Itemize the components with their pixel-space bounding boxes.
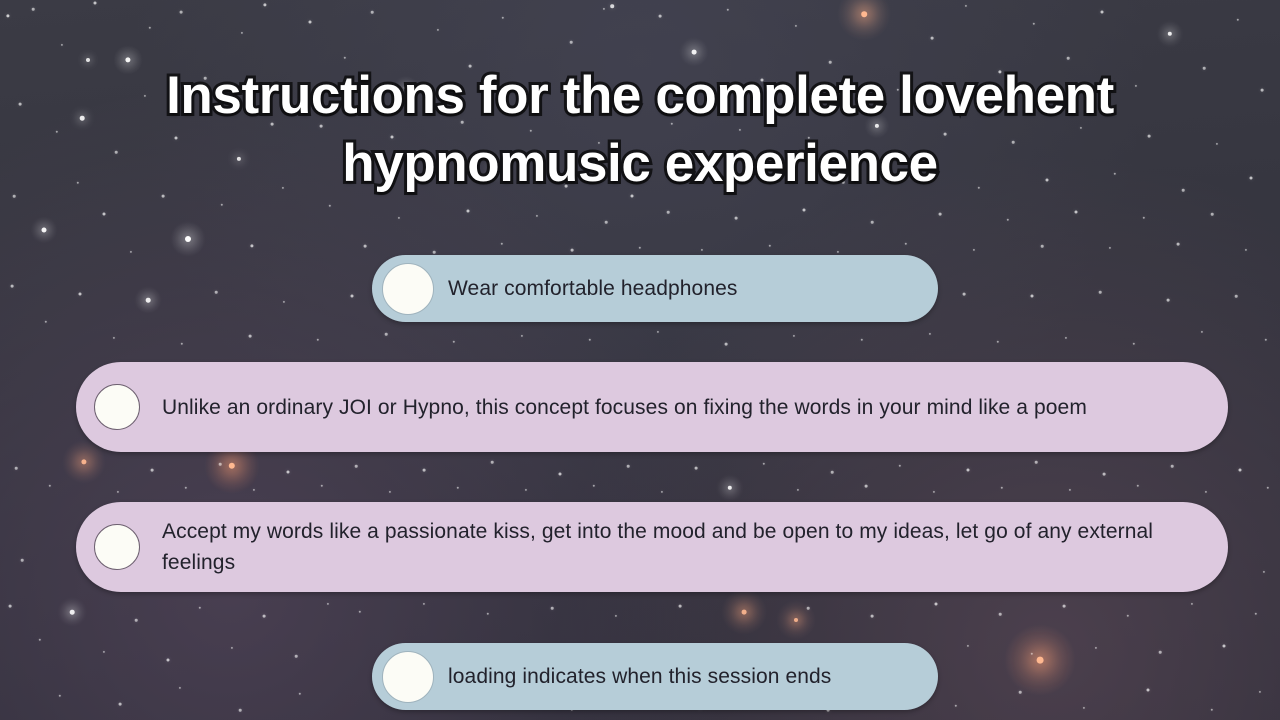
star (1159, 651, 1162, 654)
star (939, 213, 942, 216)
star (679, 605, 682, 608)
star (1095, 647, 1097, 649)
star (180, 11, 183, 14)
star (871, 221, 874, 224)
star (803, 209, 806, 212)
star (1041, 245, 1044, 248)
star (263, 615, 266, 618)
instruction-card-text: Wear comfortable headphones (448, 273, 738, 304)
star (1137, 485, 1139, 487)
star (1235, 295, 1238, 298)
star (42, 228, 47, 233)
circle-bullet-icon (94, 524, 140, 570)
star (742, 610, 747, 615)
star (398, 217, 400, 219)
star (117, 491, 119, 493)
star (807, 607, 810, 610)
star (551, 607, 554, 610)
star (167, 659, 170, 662)
star (453, 341, 455, 343)
star-glow (1156, 20, 1184, 48)
star (1075, 211, 1078, 214)
star (861, 11, 867, 17)
star-glow (837, 0, 891, 41)
star (355, 465, 358, 468)
star-glow (134, 286, 162, 314)
star (695, 467, 698, 470)
star-glow (776, 600, 816, 640)
star (963, 293, 966, 296)
star (1191, 603, 1193, 605)
star (317, 339, 319, 341)
star (39, 639, 41, 641)
star (1101, 11, 1104, 14)
instruction-card[interactable]: Wear comfortable headphones (372, 255, 938, 322)
star (1263, 571, 1265, 573)
star (364, 245, 367, 248)
star (59, 695, 61, 697)
star (1205, 491, 1207, 493)
star (151, 469, 154, 472)
star (570, 41, 573, 44)
star (589, 339, 591, 341)
star (146, 298, 151, 303)
star-glow (31, 217, 57, 243)
star (6, 14, 9, 17)
star (433, 251, 436, 254)
star (1109, 247, 1111, 249)
page-title-line-2: hypnomusic experience (0, 130, 1280, 198)
star (229, 463, 235, 469)
star (794, 618, 798, 622)
star (955, 705, 957, 707)
star (250, 244, 253, 247)
star (351, 295, 354, 298)
star (94, 2, 97, 5)
star (1035, 461, 1038, 464)
star (1147, 689, 1150, 692)
star (423, 603, 425, 605)
star (763, 463, 765, 465)
star (199, 607, 201, 609)
star (899, 465, 901, 467)
instruction-card-text: Accept my words like a passionate kiss, … (162, 516, 1202, 578)
star (185, 487, 187, 489)
star (295, 655, 298, 658)
star (1245, 249, 1247, 251)
star (525, 489, 527, 491)
hypnomusic-instructions-screen: Instructions for the complete lovehent h… (0, 0, 1280, 720)
star (502, 17, 504, 19)
star (359, 611, 361, 613)
star (1259, 691, 1261, 693)
star (61, 44, 63, 46)
star (501, 243, 503, 245)
star (423, 469, 426, 472)
star (1167, 299, 1170, 302)
star (1255, 613, 1257, 615)
star (179, 687, 181, 689)
star (70, 610, 75, 615)
star (1031, 653, 1033, 655)
star (1001, 487, 1003, 489)
circle-bullet-icon (382, 651, 434, 703)
star-glow (716, 474, 744, 502)
star (1133, 343, 1135, 345)
star (1019, 691, 1022, 694)
star (241, 32, 243, 34)
star (861, 339, 863, 341)
star (467, 210, 470, 213)
star (1065, 337, 1067, 339)
star (263, 3, 266, 6)
star (15, 467, 18, 470)
star (457, 487, 459, 489)
star (536, 215, 538, 217)
star (935, 603, 938, 606)
star (1033, 23, 1035, 25)
star (149, 27, 151, 29)
star (615, 615, 617, 617)
star (639, 247, 641, 249)
star (931, 37, 934, 40)
star (219, 463, 222, 466)
star (571, 249, 574, 252)
page-title-line-1: Instructions for the complete lovehent (0, 62, 1280, 130)
star (45, 321, 47, 323)
star (231, 647, 233, 649)
star (667, 211, 670, 214)
circle-bullet-icon (94, 384, 140, 430)
circle-bullet-icon (382, 263, 434, 315)
star (661, 491, 663, 493)
star (103, 651, 105, 653)
star (329, 205, 331, 207)
star (371, 11, 374, 14)
star (1063, 605, 1066, 608)
star (239, 709, 242, 712)
star (327, 603, 329, 605)
star (967, 469, 970, 472)
star (967, 645, 969, 647)
star (865, 485, 868, 488)
star (627, 465, 630, 468)
star (657, 331, 659, 333)
star (344, 57, 346, 59)
star (997, 341, 999, 343)
star (113, 337, 115, 339)
star (1211, 213, 1214, 216)
instruction-card[interactable]: loading indicates when this session ends (372, 643, 938, 710)
star (1265, 339, 1267, 341)
star (1177, 243, 1180, 246)
star (521, 335, 523, 337)
star (929, 333, 931, 335)
star (837, 251, 839, 253)
star (1239, 469, 1242, 472)
star (11, 285, 14, 288)
star (1237, 19, 1239, 21)
star (999, 613, 1002, 616)
star (559, 473, 562, 476)
star (253, 489, 255, 491)
star (610, 4, 614, 8)
star (692, 50, 697, 55)
star-glow (57, 597, 87, 627)
star (605, 221, 608, 224)
star (1067, 57, 1070, 60)
star (871, 615, 874, 618)
star (701, 249, 703, 251)
star (1201, 331, 1203, 333)
star (1171, 465, 1174, 468)
star (119, 703, 122, 706)
star (1211, 709, 1213, 711)
star-glow (721, 589, 767, 635)
star (389, 491, 391, 493)
star (1031, 295, 1034, 298)
star (769, 245, 771, 247)
star-glow (170, 221, 206, 257)
star (1099, 291, 1102, 294)
star (130, 251, 132, 253)
instruction-card-text: Unlike an ordinary JOI or Hypno, this co… (162, 392, 1087, 423)
star (965, 5, 967, 7)
star (735, 217, 738, 220)
star (21, 559, 24, 562)
star (797, 489, 799, 491)
star (249, 335, 252, 338)
star (309, 21, 312, 24)
star (593, 485, 595, 487)
star (1143, 217, 1145, 219)
star (437, 29, 439, 31)
star (181, 343, 183, 345)
star (1168, 32, 1172, 36)
star (659, 15, 662, 18)
star (283, 301, 285, 303)
star (9, 605, 12, 608)
star (1267, 487, 1269, 489)
star (933, 491, 935, 493)
instruction-card[interactable]: Unlike an ordinary JOI or Hypno, this co… (76, 362, 1228, 452)
star (728, 486, 732, 490)
star (487, 613, 489, 615)
star (103, 213, 106, 216)
page-title: Instructions for the complete lovehent h… (0, 62, 1280, 198)
star-glow (1004, 624, 1076, 696)
star (135, 619, 138, 622)
star (831, 471, 834, 474)
star (905, 243, 907, 245)
star (221, 204, 223, 206)
star (81, 459, 86, 464)
star (1069, 489, 1071, 491)
star (185, 236, 191, 242)
star (725, 343, 728, 346)
star (973, 249, 975, 251)
star (1083, 707, 1085, 709)
star (79, 293, 82, 296)
star (299, 693, 301, 695)
star (1127, 615, 1129, 617)
star (603, 8, 605, 10)
star (32, 8, 35, 11)
star (385, 333, 388, 336)
star (215, 291, 218, 294)
star (1223, 645, 1226, 648)
star (1103, 473, 1106, 476)
star (287, 471, 290, 474)
instruction-card-text: loading indicates when this session ends (448, 661, 831, 692)
star (1037, 657, 1044, 664)
star (795, 25, 797, 27)
star (1007, 219, 1009, 221)
instruction-card[interactable]: Accept my words like a passionate kiss, … (76, 502, 1228, 592)
star (491, 461, 494, 464)
star (727, 9, 729, 11)
star (49, 485, 51, 487)
star (793, 335, 795, 337)
star (321, 485, 323, 487)
